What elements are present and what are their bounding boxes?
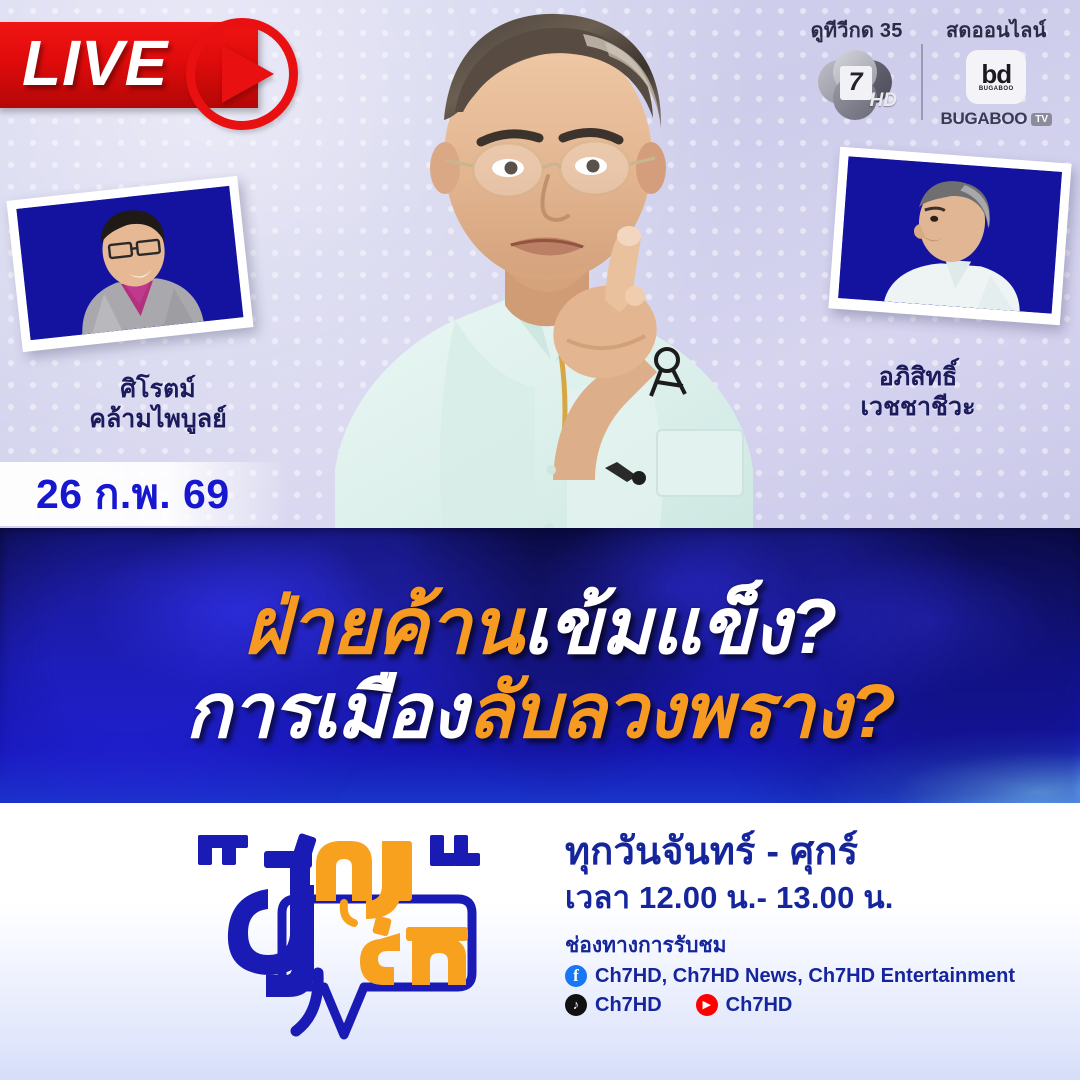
- tv-caption: ดูทีวีกด 35: [811, 14, 903, 46]
- guest-photo-left: [6, 176, 253, 352]
- logo-word-orange-2: [360, 915, 468, 985]
- guest-photo-abhisit: [838, 156, 1062, 313]
- bugaboo-word-text: BUGABOO: [941, 109, 1028, 129]
- guest-photo-sirote: [16, 186, 243, 340]
- host-photo: [305, 0, 775, 545]
- logo-word-blue: [228, 833, 318, 1031]
- live-label: LIVE: [22, 29, 168, 97]
- bugaboo-tv-badge: TV: [1031, 113, 1052, 126]
- date-text: 26 ก.พ. 69: [0, 462, 230, 527]
- youtube-account: Ch7HD: [726, 993, 793, 1017]
- play-triangle-icon: [222, 45, 274, 103]
- tiktok-account: Ch7HD: [595, 993, 662, 1017]
- guest-name-right: อภิสิทธิ์ เวชชาชีวะ: [792, 362, 1044, 422]
- ch7-hd-label: HD: [870, 90, 897, 112]
- bugaboo-wordmark: BUGABOO TV: [941, 109, 1052, 129]
- bugaboo-sub: BUGABOO: [979, 86, 1014, 92]
- bottom-info-section: ทุกวันจันทร์ - ศุกร์ เวลา 12.00 น.- 13.0…: [0, 803, 1080, 1080]
- quote-open-icon: [198, 835, 248, 865]
- headline-line2-white: การเมือง: [185, 669, 466, 754]
- guest-name-line2: เวชชาชีวะ: [792, 392, 1044, 422]
- schedule-days: ทุกวันจันทร์ - ศุกร์: [565, 829, 1065, 875]
- facebook-row[interactable]: f Ch7HD, Ch7HD News, Ch7HD Entertainment: [565, 964, 1065, 988]
- youtube-group[interactable]: ▶ Ch7HD: [696, 993, 793, 1017]
- guest-name-line1: ศิโรตม์: [32, 374, 284, 404]
- youtube-icon: ▶: [696, 994, 718, 1016]
- date-badge: 26 ก.พ. 69: [0, 462, 288, 526]
- live-badge: LIVE: [0, 18, 314, 112]
- tiktok-icon: ♪: [565, 994, 587, 1016]
- headline-line2-orange: ลับลวงพราง?: [467, 669, 895, 754]
- tv-channel-group: ดูทีวีกด 35 7 HD: [811, 14, 903, 122]
- headline-line-1: ฝ่ายค้านเข้มแข็ง?: [244, 583, 836, 669]
- tiktok-group[interactable]: ♪ Ch7HD: [565, 993, 662, 1017]
- show-logo: [168, 823, 518, 1053]
- ch7hd-logo-icon: 7 HD: [818, 50, 896, 122]
- logo-word-orange-1: [316, 841, 412, 923]
- ch7-number: 7: [840, 66, 872, 100]
- headline-line1-orange: ฝ่ายค้าน: [244, 582, 523, 670]
- channel-strip: ดูทีวีกด 35 7 HD สดออนไลน์ bd BUGABOO BU…: [811, 14, 1052, 129]
- schedule-time: เวลา 12.00 น.- 13.00 น.: [565, 877, 1065, 919]
- guest-name-line1: อภิสิทธิ์: [792, 362, 1044, 392]
- headline: ฝ่ายค้านเข้มแข็ง? การเมืองลับลวงพราง?: [0, 528, 1080, 803]
- facebook-icon: f: [565, 965, 587, 987]
- photo-frame: [6, 176, 253, 352]
- headline-band: ฝ่ายค้านเข้มแข็ง? การเมืองลับลวงพราง?: [0, 528, 1080, 803]
- strip-divider: [921, 44, 923, 120]
- bugaboo-logo-icon: bd BUGABOO: [966, 50, 1026, 104]
- online-caption: สดออนไลน์: [946, 14, 1046, 46]
- live-promo-poster: LIVE ดูทีวีกด 35 7 HD สดออนไลน์ bd BUGAB…: [0, 0, 1080, 1080]
- channels-heading: ช่องทางการรับชม: [565, 933, 1065, 959]
- headline-line-2: การเมืองลับลวงพราง?: [185, 669, 895, 755]
- online-channel-group: สดออนไลน์ bd BUGABOO BUGABOO TV: [941, 14, 1052, 129]
- headline-line1-white: เข้มแข็ง?: [522, 582, 836, 670]
- photo-frame: [828, 147, 1071, 326]
- social-row-tiktok-youtube[interactable]: ♪ Ch7HD ▶ Ch7HD: [565, 993, 1065, 1017]
- guest-name-line2: คล้ามไพบูลย์: [32, 404, 284, 434]
- bugaboo-mark: bd: [981, 62, 1011, 86]
- guest-name-left: ศิโรตม์ คล้ามไพบูลย์: [32, 374, 284, 434]
- guest-photo-right: [828, 147, 1071, 326]
- schedule-info: ทุกวันจันทร์ - ศุกร์ เวลา 12.00 น.- 13.0…: [565, 829, 1065, 1017]
- facebook-accounts: Ch7HD, Ch7HD News, Ch7HD Entertainment: [595, 964, 1015, 988]
- quote-close-icon: [430, 835, 480, 866]
